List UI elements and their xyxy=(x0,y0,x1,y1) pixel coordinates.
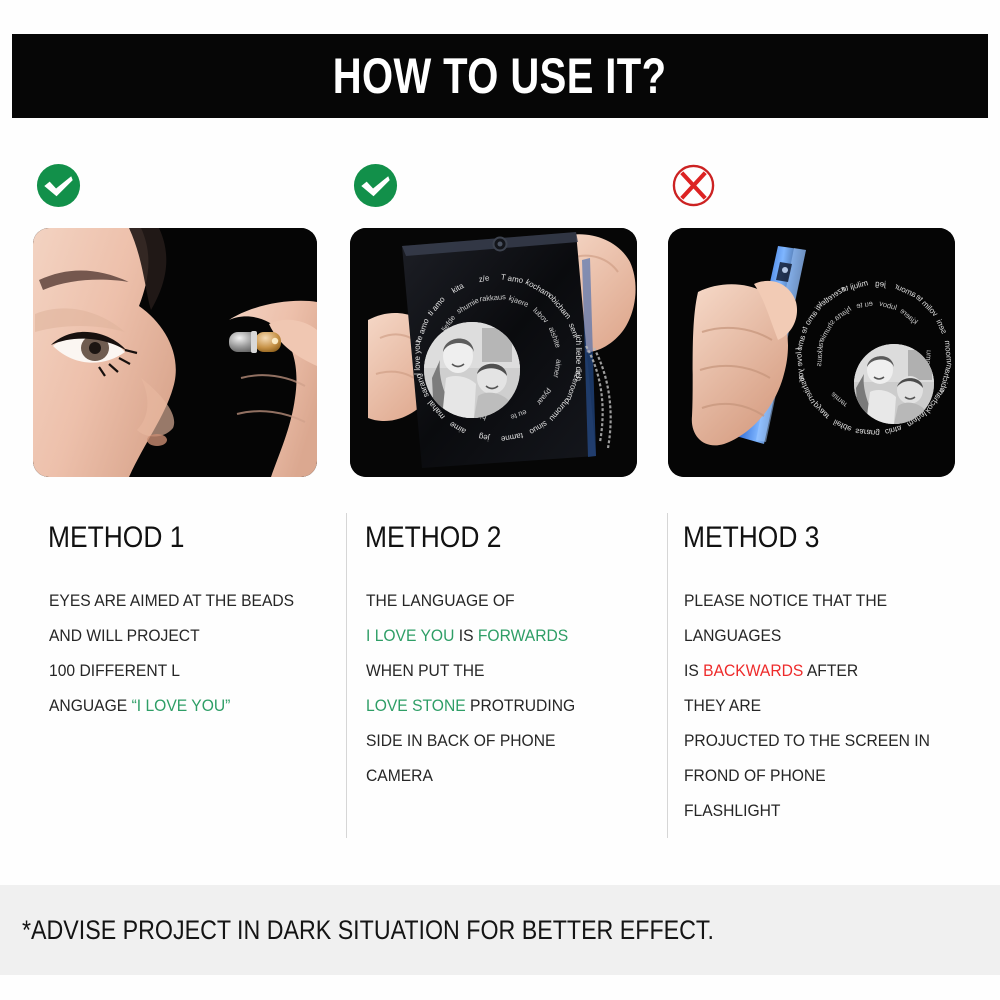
check-circle-icon xyxy=(35,162,82,209)
text-run-green: I LOVE YOU xyxy=(366,626,454,645)
method-body-line: PROJUCTED TO THE SCREEN IN xyxy=(684,723,960,758)
text-run-normal: 100 DIFFERENT L xyxy=(49,661,180,680)
text-run-normal: THE LANGUAGE OF xyxy=(366,591,515,610)
photo-phone-screen-projection-icon: I love you te amo ti amo kita z/e T amo … xyxy=(350,228,637,477)
text-run-green: FORWARDS xyxy=(478,626,568,645)
method-body-line: THE LANGUAGE OF xyxy=(366,583,642,618)
text-run-normal: PLEASE NOTICE THAT THE xyxy=(684,591,887,610)
svg-text:I love you: I love you xyxy=(413,341,422,375)
page-title: HOW TO USE IT? xyxy=(333,51,667,101)
text-run-green: LOVE STONE xyxy=(366,696,466,715)
text-run-normal: IS xyxy=(454,626,477,645)
svg-text:z/e: z/e xyxy=(478,273,491,284)
svg-text:jeg: jeg xyxy=(875,279,887,289)
x-circle-icon xyxy=(670,162,717,209)
text-run-green: “I LOVE YOU” xyxy=(132,696,231,715)
method-body-3: PLEASE NOTICE THAT THELANGUAGESIS BACKWA… xyxy=(684,583,984,828)
text-run-normal: EYES ARE AIMED AT THE BEADS xyxy=(49,591,294,610)
text-run-normal: AFTER xyxy=(803,661,858,680)
methods-container: METHOD 1 EYES ARE AIMED AT THE BEADSAND … xyxy=(0,150,1000,850)
method-body-line: FROND OF PHONE xyxy=(684,758,960,793)
method-body-line: THEY ARE xyxy=(684,688,960,723)
method-body-line: FLASHLIGHT xyxy=(684,793,960,828)
text-run-red: BACKWARDS xyxy=(703,661,803,680)
text-run-normal: LANGUAGES xyxy=(684,626,781,645)
text-run-normal: PROJUCTED TO THE SCREEN IN xyxy=(684,731,930,750)
advise-note: *ADVISE PROJECT IN DARK SITUATION FOR BE… xyxy=(22,915,714,946)
text-run-normal: ANGUAGE xyxy=(49,696,132,715)
method-body-1: EYES ARE AIMED AT THE BEADSAND WILL PROJ… xyxy=(49,583,349,723)
method-body-line: CAMERA xyxy=(366,758,642,793)
method-body-line: IS BACKWARDS AFTER xyxy=(684,653,960,688)
column-divider-2 xyxy=(667,513,668,838)
header-banner: HOW TO USE IT? xyxy=(12,34,988,118)
text-run-normal: THEY ARE xyxy=(684,696,761,715)
text-run-normal: IS xyxy=(684,661,703,680)
method-body-line: EYES ARE AIMED AT THE BEADS xyxy=(49,583,325,618)
check-circle-icon xyxy=(352,162,399,209)
photo-phone-flashlight-projection-icon: I love you te amo ti amo szeretlek miluj… xyxy=(668,228,955,477)
method-body-line: LANGUAGES xyxy=(684,618,960,653)
text-run-normal: SIDE IN BACK OF PHONE xyxy=(366,731,555,750)
text-run-normal: CAMERA xyxy=(366,766,433,785)
method-title-2: METHOD 2 xyxy=(365,521,501,555)
text-run-normal: WHEN PUT THE xyxy=(366,661,484,680)
text-run-normal: PROTRUDING xyxy=(466,696,575,715)
method-body-line: ANGUAGE “I LOVE YOU” xyxy=(49,688,325,723)
method-body-line: I LOVE YOU IS FORWARDS xyxy=(366,618,642,653)
method-body-line: LOVE STONE PROTRUDING xyxy=(366,688,642,723)
text-run-normal: FROND OF PHONE xyxy=(684,766,826,785)
text-run-normal: AND WILL PROJECT xyxy=(49,626,200,645)
photo-eye-with-bead-icon xyxy=(33,228,317,477)
text-run-normal: FLASHLIGHT xyxy=(684,801,780,820)
method-body-2: THE LANGUAGE OFI LOVE YOU IS FORWARDSWHE… xyxy=(366,583,666,793)
method-body-line: AND WILL PROJECT xyxy=(49,618,325,653)
method-body-line: WHEN PUT THE xyxy=(366,653,642,688)
method-title-1: METHOD 1 xyxy=(48,521,184,555)
method-body-line: PLEASE NOTICE THAT THE xyxy=(684,583,960,618)
method-body-line: SIDE IN BACK OF PHONE xyxy=(366,723,642,758)
method-title-3: METHOD 3 xyxy=(683,521,819,555)
footer-note-band: *ADVISE PROJECT IN DARK SITUATION FOR BE… xyxy=(0,885,1000,975)
infographic-page: HOW TO USE IT? xyxy=(0,0,1000,1000)
method-body-line: 100 DIFFERENT L xyxy=(49,653,325,688)
